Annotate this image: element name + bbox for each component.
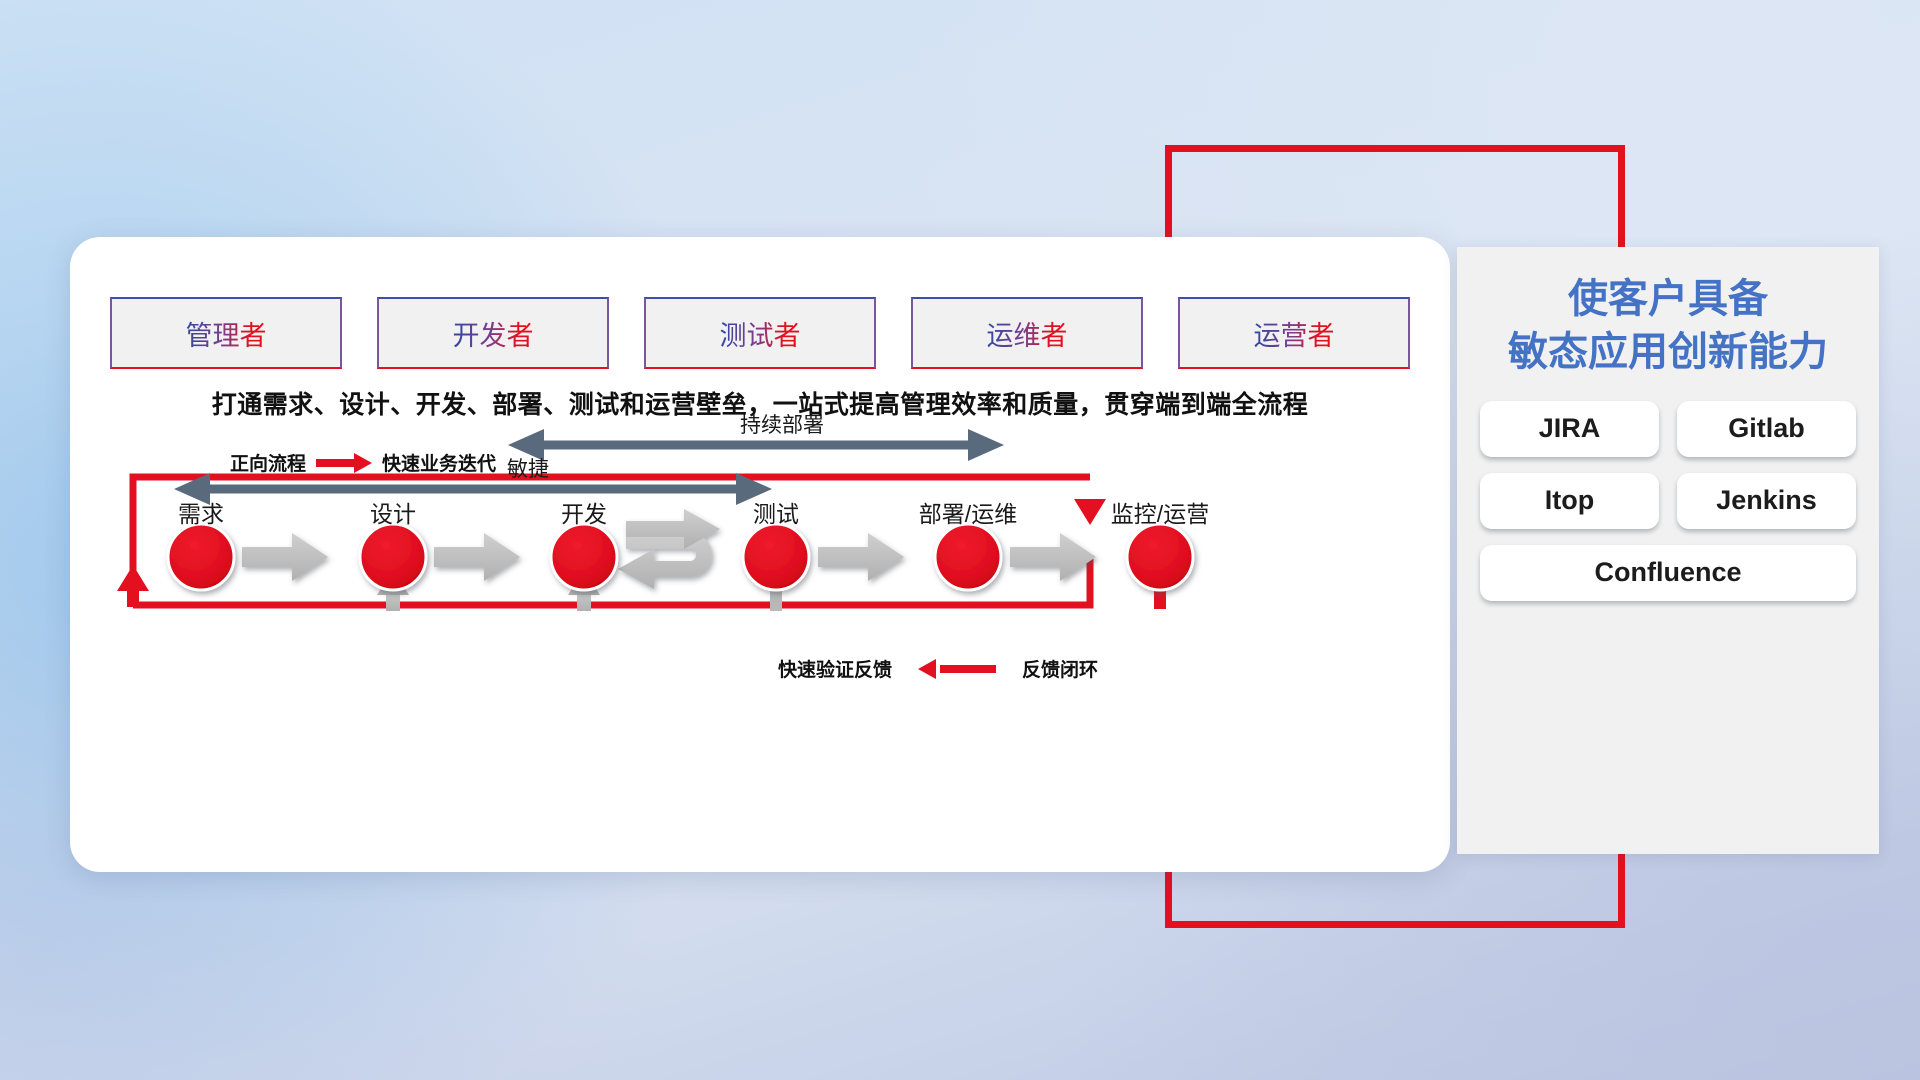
tool-label: Itop [1545,485,1594,516]
stage-circle [743,524,809,590]
tool-label: Gitlab [1728,413,1805,444]
main-content-card: 管理者 开发者 测试者 运维者 运营者 打通需求、设计、开发、部署、测试和运营壁… [70,237,1450,872]
gray-right-arrow-icon [1010,533,1096,581]
stage-circle [1127,524,1193,590]
stage-label-development: 开发 [561,495,607,529]
devops-pipeline-graphic [70,237,1450,872]
tool-label: JIRA [1539,413,1601,444]
stage-label-monitor-operate: 监控/运营 [1111,495,1209,529]
stage-circle [360,524,426,590]
iteration-uturn-arrow-icon [618,507,720,589]
panel-title-line-2: 敏态应用创新能力 [1457,326,1879,379]
stage-label-deploy-ops: 部署/运维 [919,495,1017,529]
red-down-arrowhead-icon [1074,499,1106,525]
red-up-arrowhead-icon [117,565,149,607]
tool-chip-jira[interactable]: JIRA [1480,401,1659,457]
band-label-agile: 敏捷 [507,453,549,483]
tool-chip-gitlab[interactable]: Gitlab [1677,401,1856,457]
gray-right-arrow-icon [818,533,904,581]
stage-label-testing: 测试 [753,495,799,529]
tool-label: Confluence [1594,557,1741,588]
stage-label-design: 设计 [370,495,416,529]
band-label-continuous-deployment: 持续部署 [740,409,824,439]
tool-chip-confluence[interactable]: Confluence [1480,545,1856,601]
tool-label: Jenkins [1716,485,1817,516]
gray-right-arrow-icon [434,533,520,581]
tool-chip-itop[interactable]: Itop [1480,473,1659,529]
tool-chip-grid: JIRA Gitlab Itop Jenkins Confluence [1457,401,1879,601]
stage-circle [168,524,234,590]
gray-right-arrow-icon [242,533,328,581]
stage-label-requirements: 需求 [178,495,224,529]
stage-circle [551,524,617,590]
capability-panel: 使客户具备 敏态应用创新能力 JIRA Gitlab Itop Jenkins … [1457,247,1879,854]
panel-title: 使客户具备 敏态应用创新能力 [1457,247,1879,379]
tool-chip-jenkins[interactable]: Jenkins [1677,473,1856,529]
stage-circle [935,524,1001,590]
panel-title-line-1: 使客户具备 [1457,273,1879,326]
